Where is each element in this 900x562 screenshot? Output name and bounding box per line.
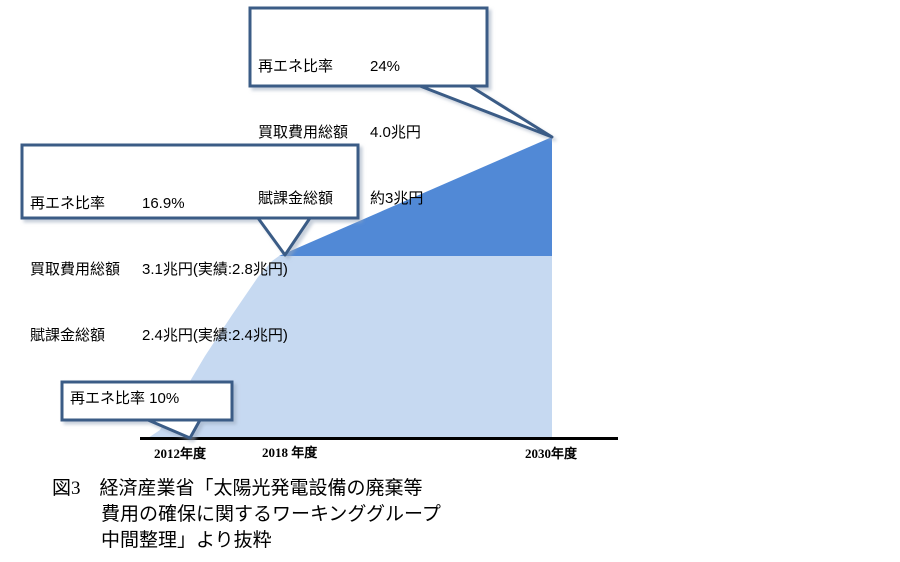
callout-2018-row-3: 賦課金総額2.4兆円(実績:2.4兆円) [30,325,288,347]
figure-caption-line-3: 中間整理」より抜粋 [52,528,612,554]
callout-2030-value-3: 約3兆円 [370,190,423,207]
callout-2030-tail [420,86,552,137]
callout-2018-row-2: 買取費用総額3.1兆円(実績:2.8兆円) [30,259,288,281]
callout-2030-label-2: 買取費用総額 [258,122,370,144]
figure-container: 再エネ比率24% 買取費用総額4.0兆円 賦課金総額約3兆円 再エネ比率16.9… [0,0,900,562]
callout-2030-row-1: 再エネ比率24% [258,56,423,78]
callout-2018-value-2: 3.1兆円(実績:2.8兆円) [142,261,288,278]
callout-2018-row-1: 再エネ比率16.9% [30,193,288,215]
figure-caption: 図3 経済産業省「太陽光発電設備の廃棄等 費用の確保に関するワーキンググループ … [52,476,612,554]
callout-2030-row-2: 買取費用総額4.0兆円 [258,122,423,144]
figure-caption-line-1: 図3 経済産業省「太陽光発電設備の廃棄等 [52,476,612,502]
callout-2018-text: 再エネ比率16.9% 買取費用総額3.1兆円(実績:2.8兆円) 賦課金総額2.… [30,149,288,391]
callout-2030-value-1: 24% [370,58,400,75]
axis-tick-label-2018: 2018 年度 [262,442,317,461]
figure-caption-line-2: 費用の確保に関するワーキンググループ [52,502,612,528]
axis-tick-label-2030: 2030年度 [525,443,577,462]
callout-2030-label-1: 再エネ比率 [258,56,370,78]
callout-2018-value-3: 2.4兆円(実績:2.4兆円) [142,327,288,344]
callout-2018-label-3: 賦課金総額 [30,325,142,347]
callout-2018-label-1: 再エネ比率 [30,193,142,215]
axis-tick-label-2012: 2012年度 [154,443,206,462]
callout-2018-value-1: 16.9% [142,195,185,212]
callout-2018-label-2: 買取費用総額 [30,259,142,281]
callout-2030-value-2: 4.0兆円 [370,124,421,141]
callout-2012-text: 再エネ比率 10% [70,388,179,410]
